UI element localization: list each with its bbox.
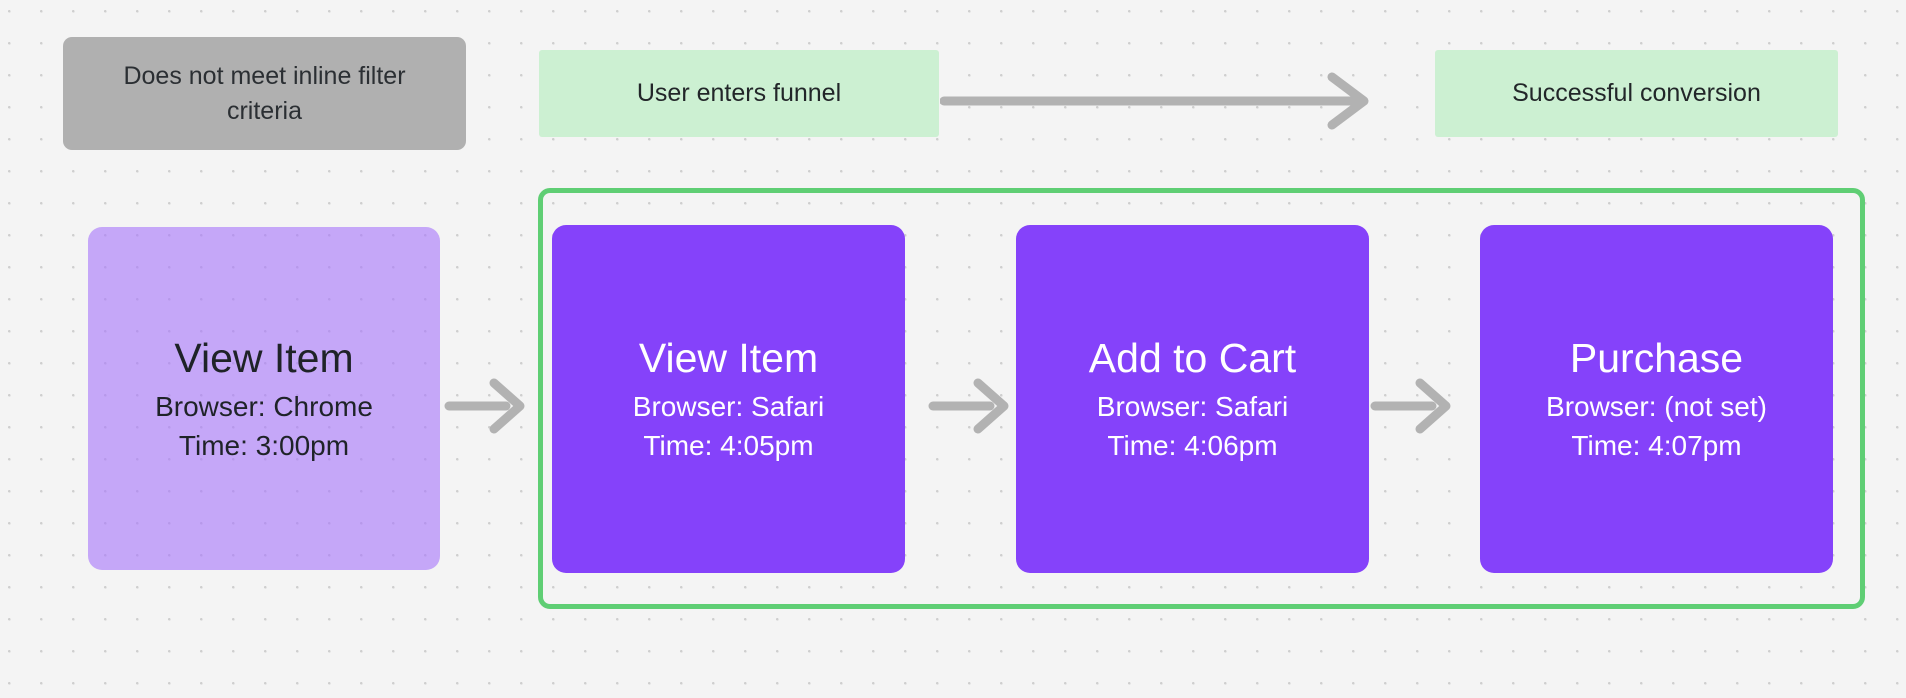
- funnel-step-browser: Browser: Chrome: [155, 387, 373, 426]
- funnel-step-title: View Item: [639, 333, 818, 383]
- funnel-step-title: Purchase: [1570, 333, 1743, 383]
- funnel-step-title: View Item: [174, 333, 353, 383]
- funnel-step-time: Time: 4:06pm: [1107, 426, 1277, 465]
- legend-user-enters-funnel-box: User enters funnel: [539, 50, 939, 137]
- funnel-step-card-2[interactable]: Add to Cart Browser: Safari Time: 4:06pm: [1016, 225, 1369, 573]
- funnel-step-time: Time: 3:00pm: [179, 426, 349, 465]
- funnel-diagram-canvas: Does not meet inline filter criteria Use…: [0, 0, 1906, 698]
- funnel-step-time: Time: 4:07pm: [1571, 426, 1741, 465]
- funnel-step-browser: Browser: Safari: [1097, 387, 1288, 426]
- legend-successful-conversion-label: Successful conversion: [1512, 79, 1761, 108]
- funnel-step-card-3[interactable]: Purchase Browser: (not set) Time: 4:07pm: [1480, 225, 1833, 573]
- legend-user-enters-funnel-label: User enters funnel: [637, 79, 841, 108]
- funnel-step-browser: Browser: Safari: [633, 387, 824, 426]
- funnel-step-card-0[interactable]: View Item Browser: Chrome Time: 3:00pm: [88, 227, 440, 570]
- funnel-step-card-1[interactable]: View Item Browser: Safari Time: 4:05pm: [552, 225, 905, 573]
- funnel-step-title: Add to Cart: [1089, 333, 1296, 383]
- right-arrow-icon: [444, 375, 530, 437]
- long-right-arrow-icon: [940, 70, 1380, 132]
- funnel-step-browser: Browser: (not set): [1546, 387, 1767, 426]
- legend-successful-conversion-box: Successful conversion: [1435, 50, 1838, 137]
- legend-filter-criteria-label: Does not meet inline filter criteria: [85, 59, 444, 129]
- funnel-step-time: Time: 4:05pm: [643, 426, 813, 465]
- legend-filter-criteria-box: Does not meet inline filter criteria: [63, 37, 466, 150]
